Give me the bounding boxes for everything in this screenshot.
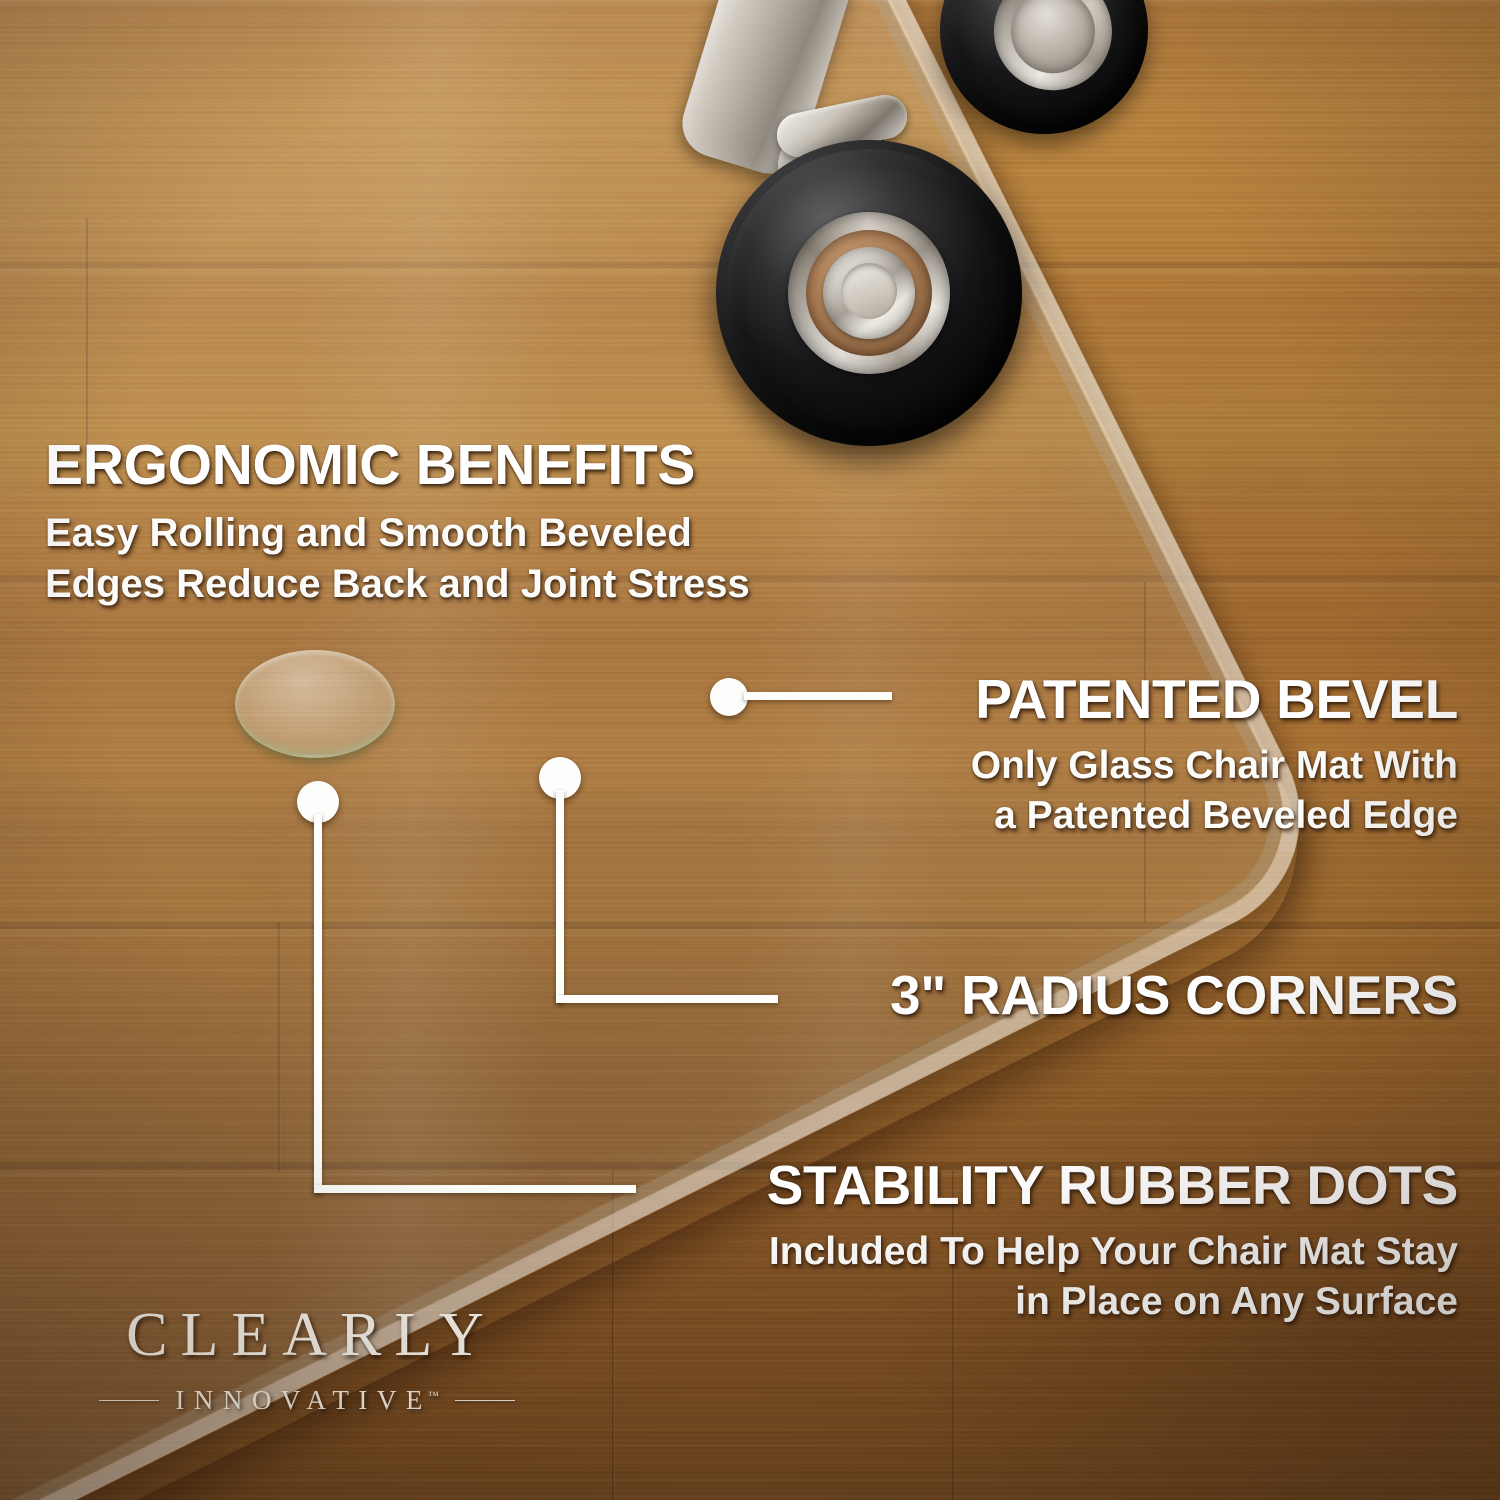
- product-feature-graphic: ERGONOMIC BENEFITS Easy Rolling and Smoo…: [0, 0, 1500, 1500]
- image-vignette: [0, 0, 1500, 1500]
